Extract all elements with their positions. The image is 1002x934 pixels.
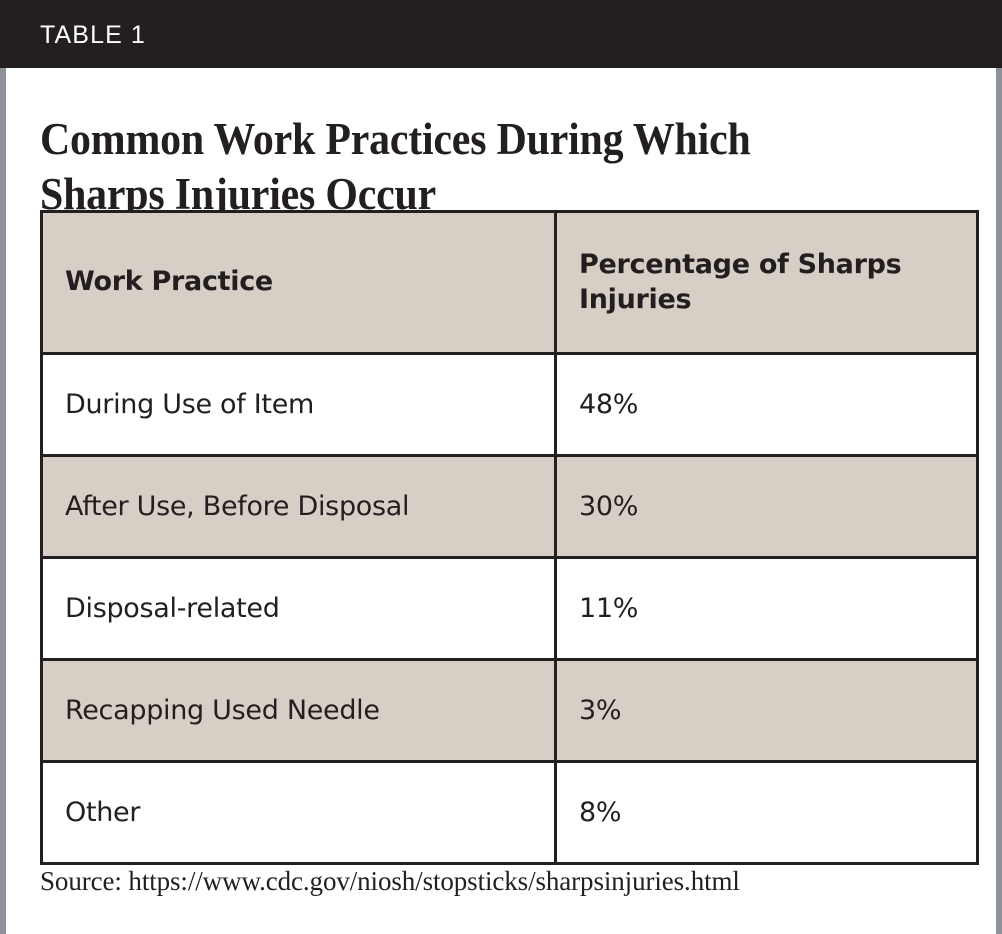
cell-work-practice: Disposal-related — [42, 558, 556, 660]
cell-percentage: 48% — [556, 354, 978, 456]
cell-percentage: 30% — [556, 456, 978, 558]
cell-percentage: 3% — [556, 660, 978, 762]
table-title: Common Work Practices During Which Sharp… — [40, 112, 877, 222]
table-figure: TABLE 1 Common Work Practices During Whi… — [0, 0, 1002, 934]
sharps-injury-table: Work Practice Percentage of Sharps Injur… — [40, 210, 979, 865]
table-number-label: TABLE 1 — [40, 21, 146, 50]
table-row: During Use of Item 48% — [42, 354, 978, 456]
cell-work-practice: During Use of Item — [42, 354, 556, 456]
cell-percentage: 8% — [556, 762, 978, 864]
table-header-row: Work Practice Percentage of Sharps Injur… — [42, 212, 978, 354]
cell-work-practice: Recapping Used Needle — [42, 660, 556, 762]
column-header-percentage: Percentage of Sharps Injuries — [556, 212, 978, 354]
table-header: Work Practice Percentage of Sharps Injur… — [42, 212, 978, 354]
table-row: Disposal-related 11% — [42, 558, 978, 660]
source-citation: Source: https://www.cdc.gov/niosh/stopst… — [40, 866, 740, 897]
cell-work-practice: After Use, Before Disposal — [42, 456, 556, 558]
column-header-work-practice: Work Practice — [42, 212, 556, 354]
table-row: Other 8% — [42, 762, 978, 864]
table-banner: TABLE 1 — [0, 0, 1002, 68]
table-row: After Use, Before Disposal 30% — [42, 456, 978, 558]
table-row: Recapping Used Needle 3% — [42, 660, 978, 762]
cell-percentage: 11% — [556, 558, 978, 660]
table-body: During Use of Item 48% After Use, Before… — [42, 354, 978, 864]
cell-work-practice: Other — [42, 762, 556, 864]
